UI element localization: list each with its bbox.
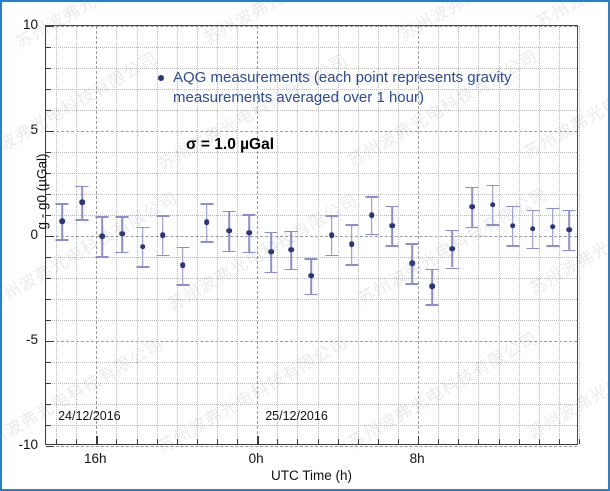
tick-x [499, 439, 500, 444]
error-bar-cap [562, 210, 575, 212]
error-bar-cap [365, 196, 378, 198]
tick-y [46, 89, 51, 90]
tick-x [297, 439, 298, 444]
error-bar-cap [243, 214, 256, 216]
tick-x [56, 439, 57, 444]
gridline-vertical [96, 26, 97, 444]
data-point [409, 260, 415, 266]
error-bar-cap [345, 264, 358, 266]
tick-x [257, 436, 258, 444]
error-bar-cap [76, 219, 89, 221]
error-bar-cap [426, 304, 439, 306]
data-point [550, 224, 556, 230]
y-tick-label: 5 [2, 122, 38, 137]
gridline-vertical [76, 26, 77, 444]
error-bar-cap [305, 294, 318, 296]
tick-x [478, 439, 479, 444]
error-bar-cap [96, 216, 109, 218]
data-point [349, 242, 355, 248]
tick-y [46, 26, 54, 27]
error-bar-cap [385, 245, 398, 247]
error-bar-cap [506, 206, 519, 208]
error-bar-cap [176, 284, 189, 286]
data-point [470, 204, 476, 210]
error-bar-cap [325, 255, 338, 257]
error-bar-cap [156, 215, 169, 217]
data-point [530, 226, 536, 232]
y-tick-label: -5 [2, 332, 38, 347]
data-point [160, 232, 166, 238]
tick-y [46, 362, 51, 363]
gridline-horizontal [46, 383, 577, 384]
tick-y [46, 446, 54, 447]
error-bar-cap [200, 203, 213, 205]
error-bar-cap [96, 256, 109, 258]
tick-x [579, 439, 580, 444]
error-bar-cap [200, 241, 213, 243]
data-point [490, 202, 496, 208]
x-tick-label: 16h [65, 451, 125, 466]
tick-x [378, 439, 379, 444]
tick-y [46, 278, 51, 279]
error-bar-cap [56, 203, 69, 205]
tick-x [177, 439, 178, 444]
tick-y [46, 320, 51, 321]
gridline-vertical [137, 26, 138, 444]
error-bar-cap [406, 243, 419, 245]
data-point [309, 273, 315, 279]
gridline-horizontal [46, 173, 577, 174]
error-bar-cap [506, 245, 519, 247]
tick-x [398, 439, 399, 444]
error-bar-cap [345, 224, 358, 226]
chart-figure: 苏州波弗光电科技有限公司苏州波弗光电科技有限公司苏州波弗光电科技有限公司苏州波弗… [0, 0, 610, 491]
gridline-horizontal [46, 425, 577, 426]
tick-y [46, 404, 51, 405]
error-bar-cap [265, 232, 278, 234]
date-annotation-right: 25/12/2016 [265, 409, 328, 423]
tick-x [438, 439, 439, 444]
data-point [429, 284, 435, 290]
tick-y [46, 68, 51, 69]
tick-x [96, 436, 97, 444]
error-bar-cap [526, 210, 539, 212]
tick-x [237, 439, 238, 444]
tick-y [46, 47, 51, 48]
data-point [389, 223, 395, 229]
tick-x [76, 439, 77, 444]
error-bar-cap [116, 252, 129, 254]
error-bar-cap [562, 250, 575, 252]
gridline-horizontal [46, 26, 577, 27]
gridline-vertical [56, 26, 57, 444]
gridline-horizontal [46, 152, 577, 153]
error-bar-cap [426, 269, 439, 271]
data-point [566, 227, 572, 233]
error-bar-cap [546, 208, 559, 210]
data-point [289, 247, 295, 253]
error-bar-cap [136, 227, 149, 229]
gridline-horizontal [46, 299, 577, 300]
tick-x [559, 439, 560, 444]
tick-y [46, 383, 51, 384]
error-bar-cap [223, 251, 236, 253]
gridline-vertical [116, 26, 117, 444]
tick-x [539, 439, 540, 444]
legend: AQG measurements (each point represents … [158, 68, 598, 108]
tick-x [318, 439, 319, 444]
tick-x [277, 439, 278, 444]
data-point [100, 233, 106, 239]
tick-x [197, 439, 198, 444]
data-point [120, 231, 126, 237]
error-bar-cap [526, 248, 539, 250]
tick-x [157, 439, 158, 444]
tick-y [46, 299, 51, 300]
error-bar-cap [466, 187, 479, 189]
error-bar-cap [406, 283, 419, 285]
gridline-horizontal [46, 362, 577, 363]
gridline-horizontal [46, 404, 577, 405]
error-bar-cap [176, 247, 189, 249]
data-point [204, 220, 210, 226]
sigma-annotation: σ = 1.0 µGal [186, 136, 274, 154]
data-point [329, 232, 335, 238]
tick-x [338, 439, 339, 444]
gridline-horizontal [46, 131, 577, 132]
tick-x [358, 439, 359, 444]
data-point [449, 246, 455, 252]
error-bar-cap [385, 206, 398, 208]
gridline-horizontal [46, 194, 577, 195]
error-bar-cap [136, 266, 149, 268]
tick-y [46, 341, 54, 342]
data-point [268, 249, 274, 255]
error-bar-cap [76, 186, 89, 188]
tick-x [217, 439, 218, 444]
tick-x [519, 439, 520, 444]
error-bar-cap [56, 239, 69, 241]
x-axis-label: UTC Time (h) [45, 468, 578, 483]
gridline-horizontal [46, 320, 577, 321]
error-bar-cap [243, 252, 256, 254]
legend-label: AQG measurements (each point represents … [173, 68, 598, 108]
plot-area: AQG measurements (each point represents … [45, 25, 578, 445]
gridline-horizontal [46, 341, 577, 342]
error-bar-cap [305, 258, 318, 260]
error-bar-cap [285, 269, 298, 271]
gridline-horizontal [46, 236, 577, 237]
data-point [510, 223, 516, 229]
y-tick-label: -10 [2, 437, 38, 452]
x-tick-label: 8h [387, 451, 447, 466]
y-tick-label: 10 [2, 17, 38, 32]
y-tick-label: 0 [2, 227, 38, 242]
tick-y [46, 110, 51, 111]
gridline-horizontal [46, 110, 577, 111]
x-tick-label: 0h [226, 451, 286, 466]
error-bar-cap [466, 227, 479, 229]
error-bar-cap [156, 255, 169, 257]
data-point [59, 218, 65, 224]
error-bar-cap [365, 234, 378, 236]
legend-marker-icon [158, 75, 164, 81]
error-bar-cap [446, 230, 459, 232]
data-point [140, 244, 146, 250]
error-bar-cap [486, 224, 499, 226]
error-bar-cap [446, 268, 459, 270]
tick-x [458, 439, 459, 444]
error-bar-cap [285, 231, 298, 233]
tick-x [116, 439, 117, 444]
gridline-horizontal [46, 47, 577, 48]
data-point [180, 263, 186, 269]
data-point [79, 200, 85, 206]
gridline-horizontal [46, 446, 577, 447]
tick-x [418, 436, 419, 444]
data-point [246, 230, 252, 236]
error-bar-cap [325, 215, 338, 217]
error-bar-cap [223, 211, 236, 213]
data-point [226, 228, 232, 234]
tick-y [46, 425, 51, 426]
tick-x [137, 439, 138, 444]
data-point [369, 212, 375, 218]
error-bar-cap [546, 245, 559, 247]
error-bar-cap [486, 185, 499, 187]
error-bar-cap [116, 216, 129, 218]
date-annotation-left: 24/12/2016 [58, 409, 121, 423]
error-bar-cap [265, 272, 278, 274]
